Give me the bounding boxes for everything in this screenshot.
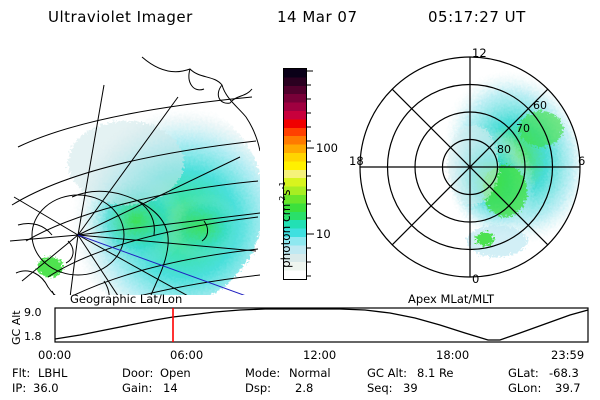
- status-glat-value: -68.3: [549, 366, 579, 380]
- orbit-xtick-0000: 00:00: [38, 348, 71, 362]
- colorbar-unit-s: s: [279, 189, 293, 195]
- colorbar-unit-photon: photon cm: [279, 204, 293, 268]
- status-glon-label: GLon:: [508, 381, 541, 395]
- orbit-xtick-1200: 12:00: [303, 348, 336, 362]
- status-row-1: Flt: LBHL Door: Open Mode: Normal GC Alt…: [0, 366, 600, 381]
- colorbar-unit-exp2: -1: [278, 181, 287, 189]
- colorbar-tick-100: 100: [316, 141, 338, 155]
- orbit-xtick-2359: 23:59: [551, 348, 584, 362]
- header-instrument: Ultraviolet Imager: [48, 8, 193, 26]
- dial-label-mlt-0: 0: [472, 272, 479, 286]
- status-dsp-label: Dsp:: [245, 381, 271, 395]
- orbit-xtick-1800: 18:00: [436, 348, 469, 362]
- header-time: 05:17:27 UT: [428, 8, 526, 26]
- status-gain-value: 14: [163, 381, 178, 395]
- apex-mlt-dial: [345, 45, 595, 295]
- status-mode-label: Mode:: [245, 366, 280, 380]
- orbit-ytick-high: 9.0: [24, 306, 42, 319]
- dial-label-lat-70: 70: [516, 122, 530, 135]
- status-seq-value: 39: [403, 381, 418, 395]
- status-door-value: Open: [160, 366, 191, 380]
- orbit-ytick-low: 1.8: [24, 330, 42, 343]
- status-gain-label: Gain:: [122, 381, 152, 395]
- dial-label-mlt-12: 12: [472, 46, 487, 60]
- orbit-xtick-0600: 06:00: [170, 348, 203, 362]
- status-mode-value: Normal: [289, 366, 331, 380]
- status-ip-value: 36.0: [33, 381, 59, 395]
- dial-label-mlt-18: 18: [349, 154, 364, 168]
- colorbar-tick-10: 10: [316, 227, 331, 241]
- dial-label-lat-80: 80: [497, 143, 511, 156]
- status-gcalt-label: GC Alt:: [367, 366, 407, 380]
- dial-grid: [360, 57, 580, 277]
- status-seq-label: Seq:: [367, 381, 393, 395]
- status-row-2: IP: 36.0 Gain: 14 Dsp: 2.8 Seq: 39 GLon:…: [0, 381, 600, 396]
- status-flt-value: LBHL: [38, 366, 67, 380]
- status-ip-label: IP:: [12, 381, 26, 395]
- orbit-altitude-curve: [55, 309, 588, 340]
- header-date: 14 Mar 07: [277, 8, 358, 26]
- uvi-display: Ultraviolet Imager 14 Mar 07 05:17:27 UT: [0, 0, 600, 400]
- geographic-panel: [8, 45, 260, 295]
- status-gcalt-value: 8.1 Re: [417, 366, 454, 380]
- aurora-emission-apex: [421, 51, 595, 263]
- status-glon-value: 39.7: [555, 381, 581, 395]
- colorbar-unit-exp1: -2: [278, 196, 287, 204]
- status-dsp-value: 2.8: [295, 381, 313, 395]
- status-flt-label: Flt:: [12, 366, 30, 380]
- dial-label-lat-60: 60: [533, 99, 547, 112]
- orbit-altitude-plot: [0, 304, 600, 348]
- status-door-label: Door:: [122, 366, 153, 380]
- colorbar-axis: [307, 68, 315, 280]
- status-glat-label: GLat:: [508, 366, 539, 380]
- aurora-emission-geographic: [37, 97, 260, 295]
- dial-label-mlt-6: 6: [578, 154, 585, 168]
